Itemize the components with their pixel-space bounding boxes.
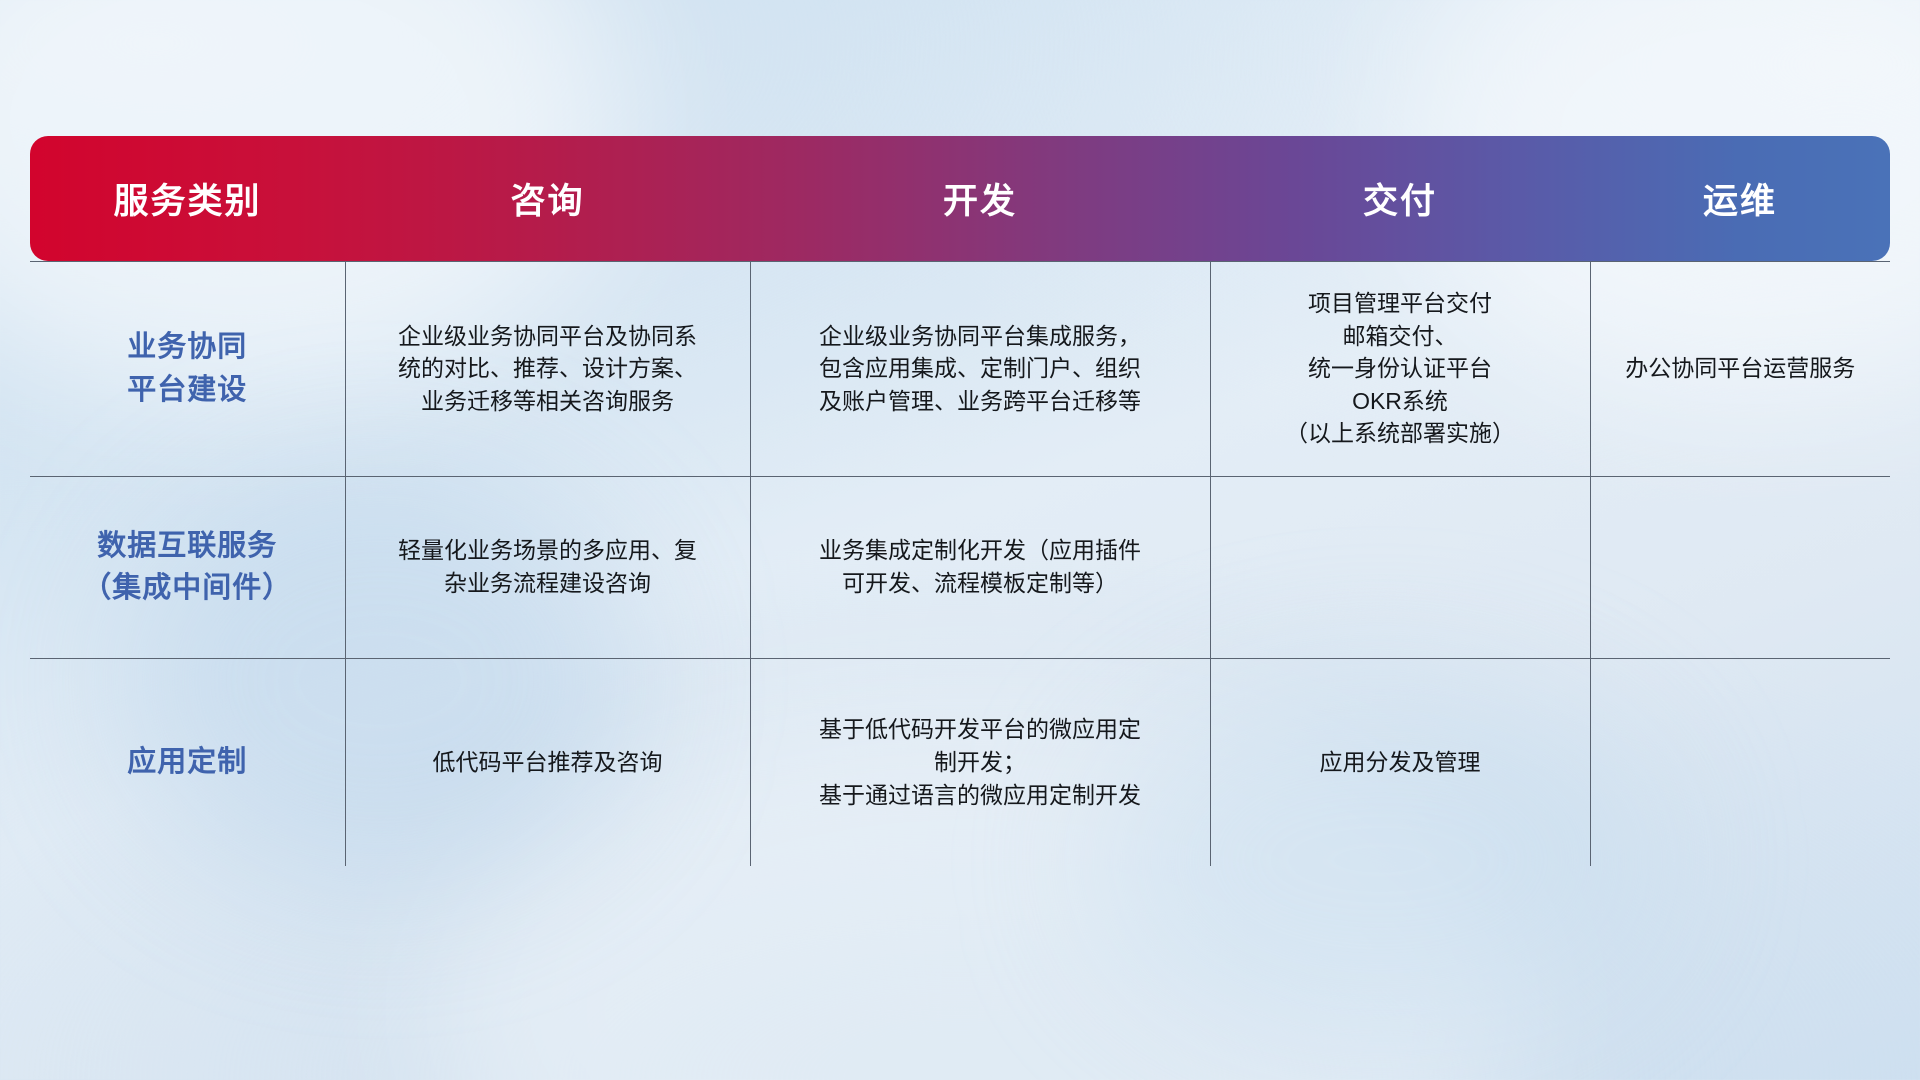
cell-development: 业务集成定制化开发（应用插件 可开发、流程模板定制等） xyxy=(750,476,1210,658)
header-cell-delivery: 交付 xyxy=(1210,136,1590,261)
cell-consulting: 企业级业务协同平台及协同系 统的对比、推荐、设计方案、 业务迁移等相关咨询服务 xyxy=(345,261,750,476)
cell-category: 应用定制 xyxy=(30,658,345,866)
header-label-consulting: 咨询 xyxy=(345,173,750,224)
cell-line: 项目管理平台交付 xyxy=(1223,287,1578,320)
cell-line: 包含应用集成、定制门户、组织 xyxy=(763,352,1198,385)
cell-line: 轻量化业务场景的多应用、复 xyxy=(358,534,738,567)
cell-line: 统的对比、推荐、设计方案、 xyxy=(358,352,738,385)
cell-operations xyxy=(1590,658,1890,866)
cell-line: （以上系统部署实施） xyxy=(1223,417,1578,450)
cell-line: 统一身份认证平台 xyxy=(1223,352,1578,385)
cell-line: 低代码平台推荐及咨询 xyxy=(358,746,738,779)
cell-line: 企业级业务协同平台及协同系 xyxy=(358,320,738,353)
cell-line: OKR系统 xyxy=(1223,385,1578,418)
cell-line: 业务迁移等相关咨询服务 xyxy=(358,385,738,418)
table-header: 服务类别 咨询 开发 交付 运维 xyxy=(30,136,1890,261)
cell-line: 数据互联服务 xyxy=(42,525,333,567)
header-row: 服务类别 咨询 开发 交付 运维 xyxy=(30,136,1890,261)
cell-consulting: 轻量化业务场景的多应用、复 杂业务流程建设咨询 xyxy=(345,476,750,658)
header-label-operations: 运维 xyxy=(1590,173,1890,224)
header-label-category: 服务类别 xyxy=(30,173,345,224)
table-row: 业务协同 平台建设 企业级业务协同平台及协同系 统的对比、推荐、设计方案、 业务… xyxy=(30,261,1890,476)
cell-line: 基于低代码开发平台的微应用定 xyxy=(763,713,1198,746)
cell-delivery xyxy=(1210,476,1590,658)
cell-line: 可开发、流程模板定制等） xyxy=(763,567,1198,600)
cell-operations xyxy=(1590,476,1890,658)
cell-development: 企业级业务协同平台集成服务， 包含应用集成、定制门户、组织 及账户管理、业务跨平… xyxy=(750,261,1210,476)
cell-line: 办公协同平台运营服务 xyxy=(1603,352,1879,385)
header-cell-category: 服务类别 xyxy=(30,136,345,261)
table-row: 应用定制 低代码平台推荐及咨询 基于低代码开发平台的微应用定 制开发； 基于通过… xyxy=(30,658,1890,866)
table-row: 数据互联服务 （集成中间件） 轻量化业务场景的多应用、复 杂业务流程建设咨询 业… xyxy=(30,476,1890,658)
cell-development: 基于低代码开发平台的微应用定 制开发； 基于通过语言的微应用定制开发 xyxy=(750,658,1210,866)
cell-line: 应用定制 xyxy=(42,741,333,783)
cell-line: 制开发； xyxy=(763,746,1198,779)
cell-delivery: 应用分发及管理 xyxy=(1210,658,1590,866)
cell-line: 邮箱交付、 xyxy=(1223,320,1578,353)
cell-line: 业务协同 xyxy=(42,326,333,368)
cell-category: 数据互联服务 （集成中间件） xyxy=(30,476,345,658)
cell-line: （集成中间件） xyxy=(42,567,333,609)
header-cell-consulting: 咨询 xyxy=(345,136,750,261)
cell-line: 企业级业务协同平台集成服务， xyxy=(763,320,1198,353)
cell-line: 业务集成定制化开发（应用插件 xyxy=(763,534,1198,567)
cell-operations: 办公协同平台运营服务 xyxy=(1590,261,1890,476)
cell-line: 应用分发及管理 xyxy=(1223,746,1578,779)
cell-line: 基于通过语言的微应用定制开发 xyxy=(763,779,1198,812)
cell-line: 杂业务流程建设咨询 xyxy=(358,567,738,600)
cell-category: 业务协同 平台建设 xyxy=(30,261,345,476)
header-label-development: 开发 xyxy=(750,173,1210,224)
header-cell-operations: 运维 xyxy=(1590,136,1890,261)
cell-consulting: 低代码平台推荐及咨询 xyxy=(345,658,750,866)
header-cell-development: 开发 xyxy=(750,136,1210,261)
service-matrix-table: 服务类别 咨询 开发 交付 运维 xyxy=(30,136,1890,866)
cell-delivery: 项目管理平台交付 邮箱交付、 统一身份认证平台 OKR系统 （以上系统部署实施） xyxy=(1210,261,1590,476)
cell-line: 及账户管理、业务跨平台迁移等 xyxy=(763,385,1198,418)
table-body: 业务协同 平台建设 企业级业务协同平台及协同系 统的对比、推荐、设计方案、 业务… xyxy=(30,261,1890,866)
service-matrix-container: 服务类别 咨询 开发 交付 运维 xyxy=(30,136,1890,866)
cell-line: 平台建设 xyxy=(42,369,333,411)
header-label-delivery: 交付 xyxy=(1210,173,1590,224)
slide-canvas: 服务类别 咨询 开发 交付 运维 xyxy=(0,0,1920,1080)
